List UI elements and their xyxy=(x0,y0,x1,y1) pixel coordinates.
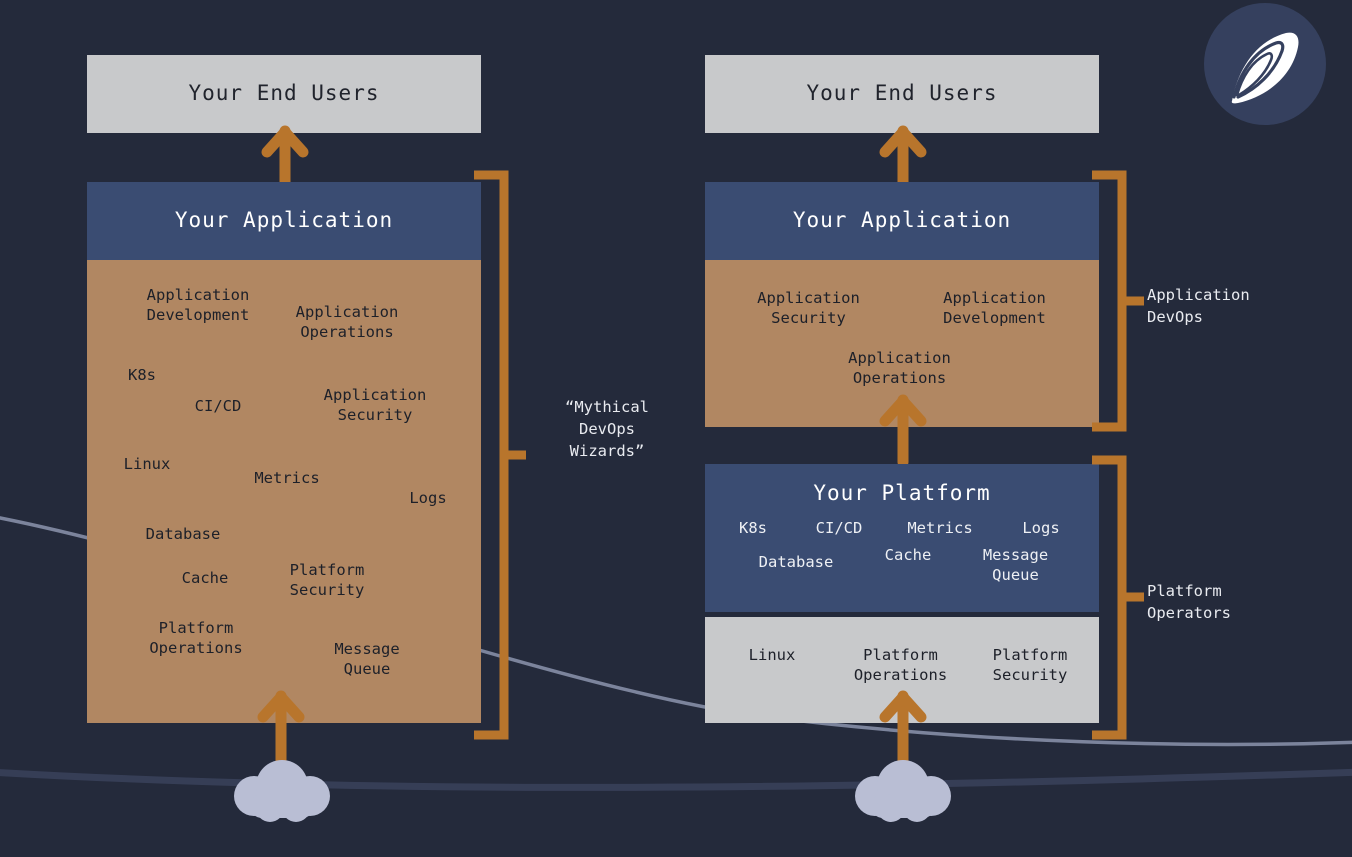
diagram-canvas: Your End Users Your Application Applicat… xyxy=(0,0,1352,857)
concern-chip: Message Queue xyxy=(312,639,422,680)
concern-chip: K8s xyxy=(721,518,785,538)
concern-chip: Logs xyxy=(398,488,458,508)
left-application-box: Your Application xyxy=(87,182,481,260)
wave-swoosh-icon xyxy=(1204,3,1326,125)
right-end-users-box: Your End Users xyxy=(705,55,1099,133)
left-application-label: Your Application xyxy=(87,208,481,232)
right-arrow-app-to-users xyxy=(880,127,926,189)
right-application-box: Your Application xyxy=(705,182,1099,260)
concern-chip: Metrics xyxy=(894,518,986,538)
right-platform-box: Your Platform K8s CI/CD Metrics Logs Dat… xyxy=(705,464,1099,612)
left-bracket-mythical-wizards xyxy=(470,170,526,740)
right-cloud-icon xyxy=(841,760,965,822)
concern-chip: Application Development xyxy=(917,288,1072,329)
brand-logo xyxy=(1204,3,1326,125)
right-bracket-application-devops xyxy=(1088,170,1144,432)
concern-chip: Linux xyxy=(724,645,820,665)
left-arrow-app-to-users xyxy=(262,127,308,189)
concern-chip: Database xyxy=(741,552,851,572)
concern-chip: Linux xyxy=(111,454,183,474)
left-end-users-box: Your End Users xyxy=(87,55,481,133)
left-end-users-label: Your End Users xyxy=(87,81,481,105)
concern-chip: Platform Operations xyxy=(823,645,978,686)
concern-chip: Application Development xyxy=(123,285,273,326)
concern-chip: Database xyxy=(128,524,238,544)
right-bracket-label-platform: Platform Operators xyxy=(1147,580,1337,624)
right-bracket-label-application: Application DevOps xyxy=(1147,284,1337,328)
concern-chip: CI/CD xyxy=(178,396,258,416)
concern-chip: Application Operations xyxy=(272,302,422,343)
left-arrow-cloud-to-stack xyxy=(258,692,304,770)
concern-chip: CI/CD xyxy=(801,518,877,538)
right-end-users-label: Your End Users xyxy=(705,81,1099,105)
concern-chip: Application Security xyxy=(731,288,886,329)
concern-chip: Platform Operations xyxy=(121,618,271,659)
concern-chip: Metrics xyxy=(242,468,332,488)
right-platform-label: Your Platform xyxy=(705,481,1099,505)
concern-chip: Cache xyxy=(165,568,245,588)
concern-chip: Application Security xyxy=(300,385,450,426)
right-arrow-cloud-to-stack xyxy=(880,692,926,770)
concern-chip: Logs xyxy=(1009,518,1073,538)
concern-chip: Platform Security xyxy=(965,645,1095,686)
left-cloud-icon xyxy=(220,760,344,822)
concern-chip: Application Operations xyxy=(822,348,977,389)
right-arrow-platform-to-app xyxy=(880,396,926,464)
right-bracket-platform-operators xyxy=(1088,455,1144,740)
left-bracket-label: “Mythical DevOps Wizards” xyxy=(527,396,687,462)
concern-chip: Cache xyxy=(868,545,948,565)
concern-chip: Platform Security xyxy=(267,560,387,601)
concern-chip: K8s xyxy=(112,365,172,385)
concern-chip: Message Queue xyxy=(958,545,1073,586)
right-application-label: Your Application xyxy=(705,208,1099,232)
left-concerns-box: Application Development Application Oper… xyxy=(87,260,481,723)
